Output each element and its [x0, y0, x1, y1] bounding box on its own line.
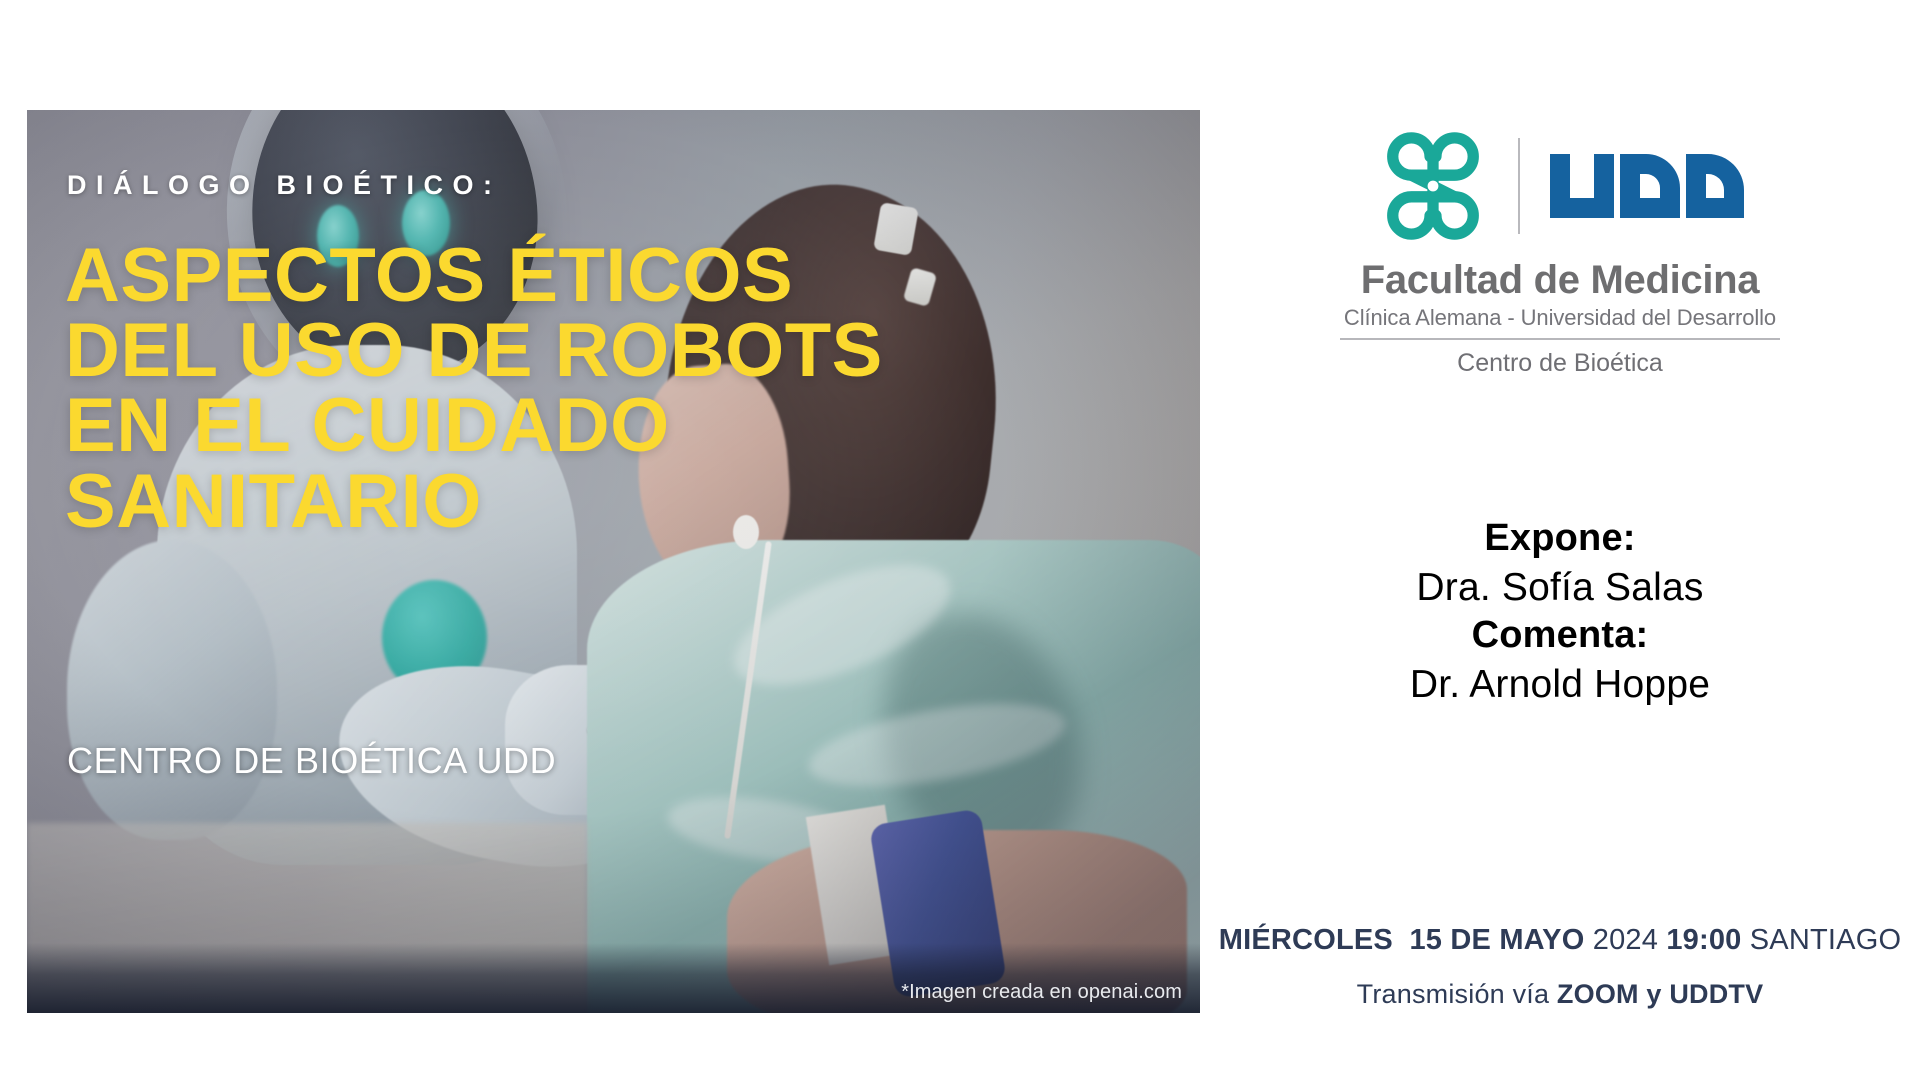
event-date: 15 DE MAYO [1409, 924, 1584, 956]
faculty-name: Facultad de Medicina [1361, 258, 1760, 303]
udd-knot-logo-icon [1374, 132, 1492, 240]
center-name: Centro de Bioética [1457, 349, 1663, 378]
event-timezone: SANTIAGO [1750, 924, 1901, 956]
commenter-name: Dr. Arnold Hoppe [1200, 660, 1920, 709]
event-info-panel: Facultad de Medicina Clínica Alemana - U… [1200, 0, 1920, 1080]
commenter-label: Comenta: [1200, 612, 1920, 660]
logo-row [1374, 130, 1746, 242]
image-credit-text: *Imagen creada en openai.com [901, 981, 1182, 1004]
event-details-block: MIÉRCOLES 15 DE MAYO 2024 19:00 SANTIAGO… [1200, 924, 1920, 1010]
logo-divider [1518, 138, 1520, 234]
stream-channels: ZOOM y UDDTV [1557, 979, 1763, 1009]
event-year: 2024 [1593, 924, 1658, 956]
event-time: 19:00 [1666, 924, 1741, 956]
poster-kicker: DIÁLOGO BIOÉTICO: [67, 170, 502, 201]
institution-name: Clínica Alemana - Universidad del Desarr… [1344, 305, 1776, 331]
poster-image-panel: DIÁLOGO BIOÉTICO: ASPECTOS ÉTICOS DEL US… [27, 110, 1200, 1013]
poster-subtitle: CENTRO DE BIOÉTICA UDD [67, 740, 556, 782]
event-datetime-line: MIÉRCOLES 15 DE MAYO 2024 19:00 SANTIAGO [1200, 924, 1920, 957]
speakers-block: Expone: Dra. Sofía Salas Comenta: Dr. Ar… [1200, 515, 1920, 709]
event-day: MIÉRCOLES [1219, 924, 1393, 956]
event-stream-line: Transmisión vía ZOOM y UDDTV [1200, 979, 1920, 1010]
brand-logo-block: Facultad de Medicina Clínica Alemana - U… [1200, 130, 1920, 378]
presenter-label: Expone: [1200, 515, 1920, 563]
brand-divider-rule [1340, 338, 1780, 340]
poster-title: ASPECTOS ÉTICOS DEL USO DE ROBOTS EN EL … [65, 238, 885, 539]
udd-wordmark-icon [1546, 150, 1746, 222]
presenter-name: Dra. Sofía Salas [1200, 563, 1920, 612]
stream-prefix: Transmisión vía [1357, 979, 1550, 1009]
